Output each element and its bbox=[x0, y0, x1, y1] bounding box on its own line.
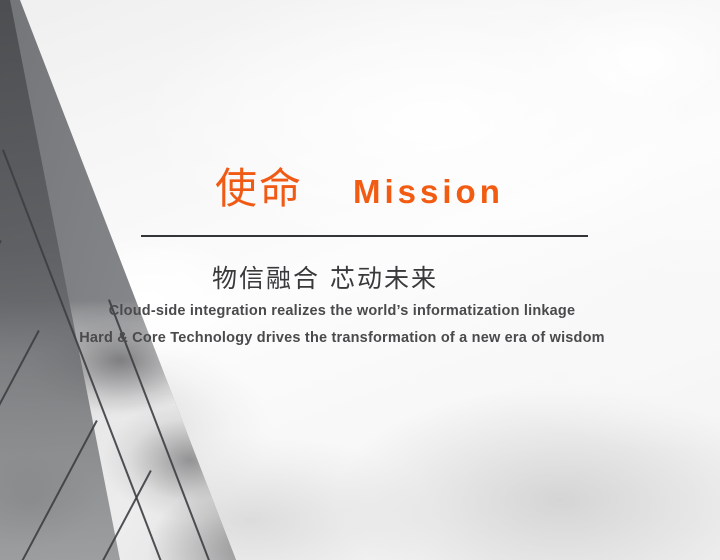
title-divider bbox=[141, 235, 588, 237]
page-title-english: Mission bbox=[353, 175, 504, 208]
mission-banner: 使命 Mission 物信融合 芯动未来 Cloud-side integrat… bbox=[0, 0, 720, 560]
page-title: 使命 Mission bbox=[141, 168, 504, 210]
tagline-line-1: Cloud-side integration realizes the worl… bbox=[0, 303, 720, 319]
tagline-line-2: Hard & Core Technology drives the transf… bbox=[0, 330, 720, 346]
banner-content: 使命 Mission 物信融合 芯动未来 Cloud-side integrat… bbox=[0, 0, 720, 560]
subtitle-chinese: 物信融合 芯动未来 bbox=[0, 259, 720, 295]
page-title-chinese: 使命 bbox=[215, 168, 303, 210]
